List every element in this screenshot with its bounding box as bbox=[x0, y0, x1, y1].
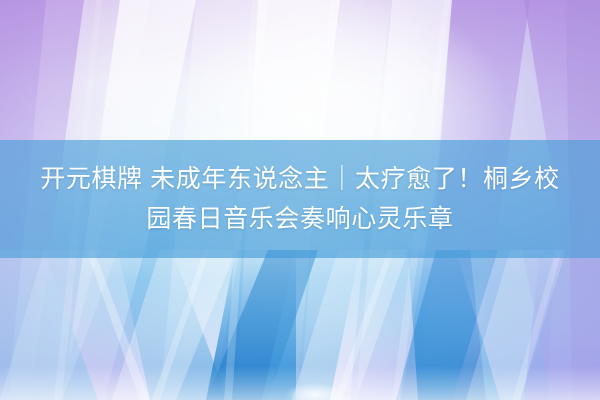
banner-image: 开元棋牌 未成年东说念主｜太疗愈了！桐乡校 园春日音乐会奏响心灵乐章 bbox=[0, 0, 600, 400]
caption-band: 开元棋牌 未成年东说念主｜太疗愈了！桐乡校 园春日音乐会奏响心灵乐章 bbox=[0, 140, 600, 258]
caption-line-1: 开元棋牌 未成年东说念主｜太疗愈了！桐乡校 bbox=[40, 159, 560, 199]
caption-line-2: 园春日音乐会奏响心灵乐章 bbox=[146, 199, 453, 239]
